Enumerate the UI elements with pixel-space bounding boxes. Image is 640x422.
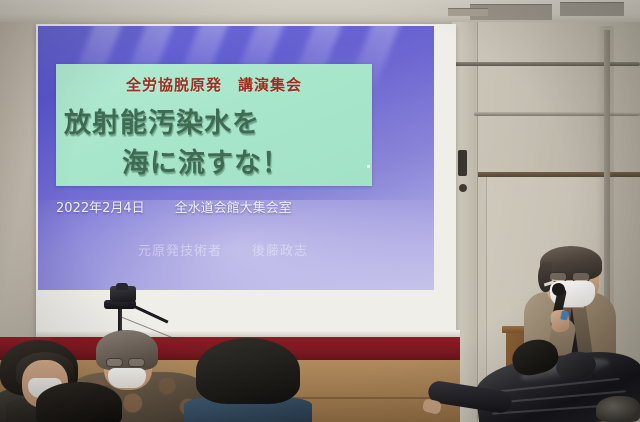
slide-subtitle-row: 2022年2月4日 全水道会館大集会室 [56,197,386,216]
slide-byline-role: 元原発技術者 [138,240,222,259]
slide-byline-name: 後藤政志 [252,240,308,259]
slide-title-line2: 海に流すな！ [56,141,372,180]
slide-venue: 全水道会館大集会室 [175,197,292,216]
camera-operator-glasses-left [106,358,123,367]
wall-switch-icon[interactable] [458,150,467,176]
wall-sensor-icon [459,184,467,192]
slide-header-text: 全労協脱原発 講演集会 [56,74,372,95]
slide-byline-row: 元原発技術者 後藤政志 [138,240,398,259]
slide-title: 放射能汚染水を 海に流すな！ [56,101,372,180]
ceiling-vent-icon [560,2,624,16]
camera-operator-glasses-right [128,358,145,367]
fur-collar [596,396,640,422]
slide-date: 2022年2月4日 [56,197,145,216]
camera-lens-icon [116,283,128,290]
wall-rail-bar [474,112,640,116]
audience-member-head [196,338,300,404]
projection-speck [367,165,370,168]
ceiling-panel [448,8,488,16]
slide-title-line1: 放射能汚染水を [56,101,372,140]
slide-green-box: 全労協脱原発 講演集会 放射能汚染水を 海に流すな！ [56,64,372,186]
lecture-hall-photo: 全労協脱原発 講演集会 放射能汚染水を 海に流すな！ 2022年2月4日 全水道… [0,0,640,422]
camera-operator-face-mask [108,368,146,388]
audience-member-head [36,382,122,422]
